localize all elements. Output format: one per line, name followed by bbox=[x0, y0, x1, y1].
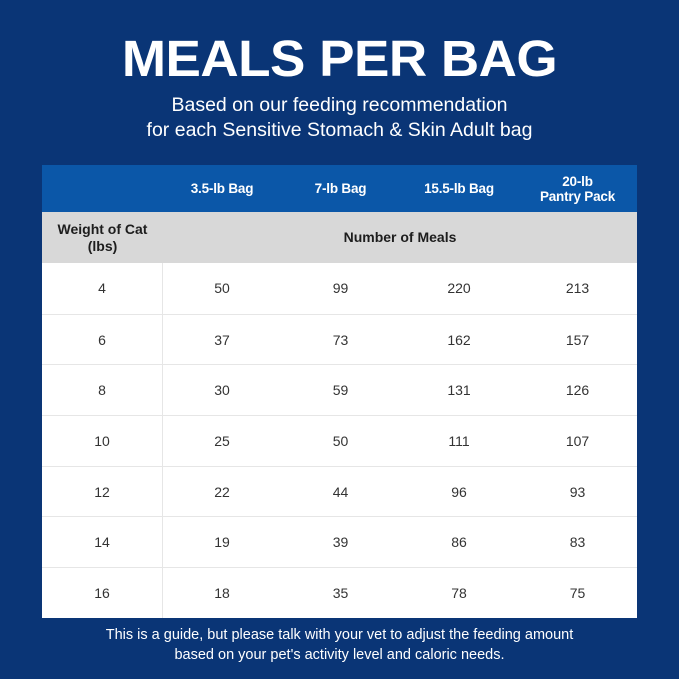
table-row: 14 19 39 86 83 bbox=[42, 516, 637, 567]
subheader-weight-of-cat: Weight of Cat (lbs) bbox=[42, 221, 163, 255]
cell-bag-15-5lb: 96 bbox=[400, 467, 518, 517]
subheader-number-of-meals: Number of Meals bbox=[163, 229, 637, 246]
subtitle-line-2: for each Sensitive Stomach & Skin Adult … bbox=[0, 118, 679, 143]
cell-bag-3-5lb: 50 bbox=[163, 263, 281, 314]
footer-line-1: This is a guide, but please talk with yo… bbox=[0, 625, 679, 645]
table-row: 4 50 99 220 213 bbox=[42, 263, 637, 314]
column-header-pantry-pack-20lb: 20-lb Pantry Pack bbox=[518, 174, 637, 204]
table-body: 4 50 99 220 213 6 37 73 162 157 8 30 59 … bbox=[42, 263, 637, 618]
cell-bag-7lb: 99 bbox=[281, 263, 400, 314]
cell-pantry-pack-20lb: 157 bbox=[518, 315, 637, 365]
weight-label-line-1: Weight of Cat bbox=[42, 221, 163, 238]
cell-bag-15-5lb: 162 bbox=[400, 315, 518, 365]
cell-bag-3-5lb: 30 bbox=[163, 365, 281, 415]
cell-weight: 4 bbox=[42, 263, 163, 314]
cell-pantry-pack-20lb: 126 bbox=[518, 365, 637, 415]
table-header-row: 3.5-lb Bag 7-lb Bag 15.5-lb Bag 20-lb Pa… bbox=[42, 165, 637, 212]
cell-bag-7lb: 50 bbox=[281, 416, 400, 466]
cell-bag-15-5lb: 86 bbox=[400, 517, 518, 567]
cell-weight: 12 bbox=[42, 467, 163, 517]
page-subtitle: Based on our feeding recommendation for … bbox=[0, 93, 679, 143]
cell-pantry-pack-20lb: 83 bbox=[518, 517, 637, 567]
cell-bag-7lb: 44 bbox=[281, 467, 400, 517]
table-row: 8 30 59 131 126 bbox=[42, 364, 637, 415]
cell-pantry-pack-20lb: 213 bbox=[518, 263, 637, 314]
cell-bag-3-5lb: 25 bbox=[163, 416, 281, 466]
infographic-page: MEALS PER BAG Based on our feeding recom… bbox=[0, 0, 679, 679]
page-title: MEALS PER BAG bbox=[0, 29, 679, 89]
cell-bag-15-5lb: 220 bbox=[400, 263, 518, 314]
cell-bag-7lb: 35 bbox=[281, 568, 400, 618]
table-row: 6 37 73 162 157 bbox=[42, 314, 637, 365]
cell-bag-3-5lb: 19 bbox=[163, 517, 281, 567]
cell-bag-7lb: 59 bbox=[281, 365, 400, 415]
cell-pantry-pack-20lb: 93 bbox=[518, 467, 637, 517]
table-row: 10 25 50 111 107 bbox=[42, 415, 637, 466]
cell-pantry-pack-20lb: 107 bbox=[518, 416, 637, 466]
column-header-bag-7lb: 7-lb Bag bbox=[281, 181, 400, 196]
pantry-pack-line-2: Pantry Pack bbox=[518, 189, 637, 204]
cell-bag-15-5lb: 111 bbox=[400, 416, 518, 466]
cell-pantry-pack-20lb: 75 bbox=[518, 568, 637, 618]
weight-label-line-2: (lbs) bbox=[42, 238, 163, 255]
column-header-bag-15-5lb: 15.5-lb Bag bbox=[400, 181, 518, 196]
cell-weight: 8 bbox=[42, 365, 163, 415]
column-header-bag-3-5lb: 3.5-lb Bag bbox=[163, 181, 281, 196]
cell-weight: 14 bbox=[42, 517, 163, 567]
table-row: 16 18 35 78 75 bbox=[42, 567, 637, 618]
subtitle-line-1: Based on our feeding recommendation bbox=[0, 93, 679, 118]
pantry-pack-line-1: 20-lb bbox=[518, 174, 637, 189]
cell-bag-3-5lb: 37 bbox=[163, 315, 281, 365]
cell-bag-15-5lb: 78 bbox=[400, 568, 518, 618]
cell-weight: 10 bbox=[42, 416, 163, 466]
table-row: 12 22 44 96 93 bbox=[42, 466, 637, 517]
cell-bag-3-5lb: 18 bbox=[163, 568, 281, 618]
cell-weight: 16 bbox=[42, 568, 163, 618]
cell-bag-3-5lb: 22 bbox=[163, 467, 281, 517]
footer-disclaimer: This is a guide, but please talk with yo… bbox=[0, 625, 679, 665]
table-subheader-row: Weight of Cat (lbs) Number of Meals bbox=[42, 212, 637, 263]
cell-weight: 6 bbox=[42, 315, 163, 365]
cell-bag-15-5lb: 131 bbox=[400, 365, 518, 415]
cell-bag-7lb: 39 bbox=[281, 517, 400, 567]
footer-line-2: based on your pet's activity level and c… bbox=[0, 645, 679, 665]
meals-per-bag-table: 3.5-lb Bag 7-lb Bag 15.5-lb Bag 20-lb Pa… bbox=[42, 165, 637, 618]
cell-bag-7lb: 73 bbox=[281, 315, 400, 365]
